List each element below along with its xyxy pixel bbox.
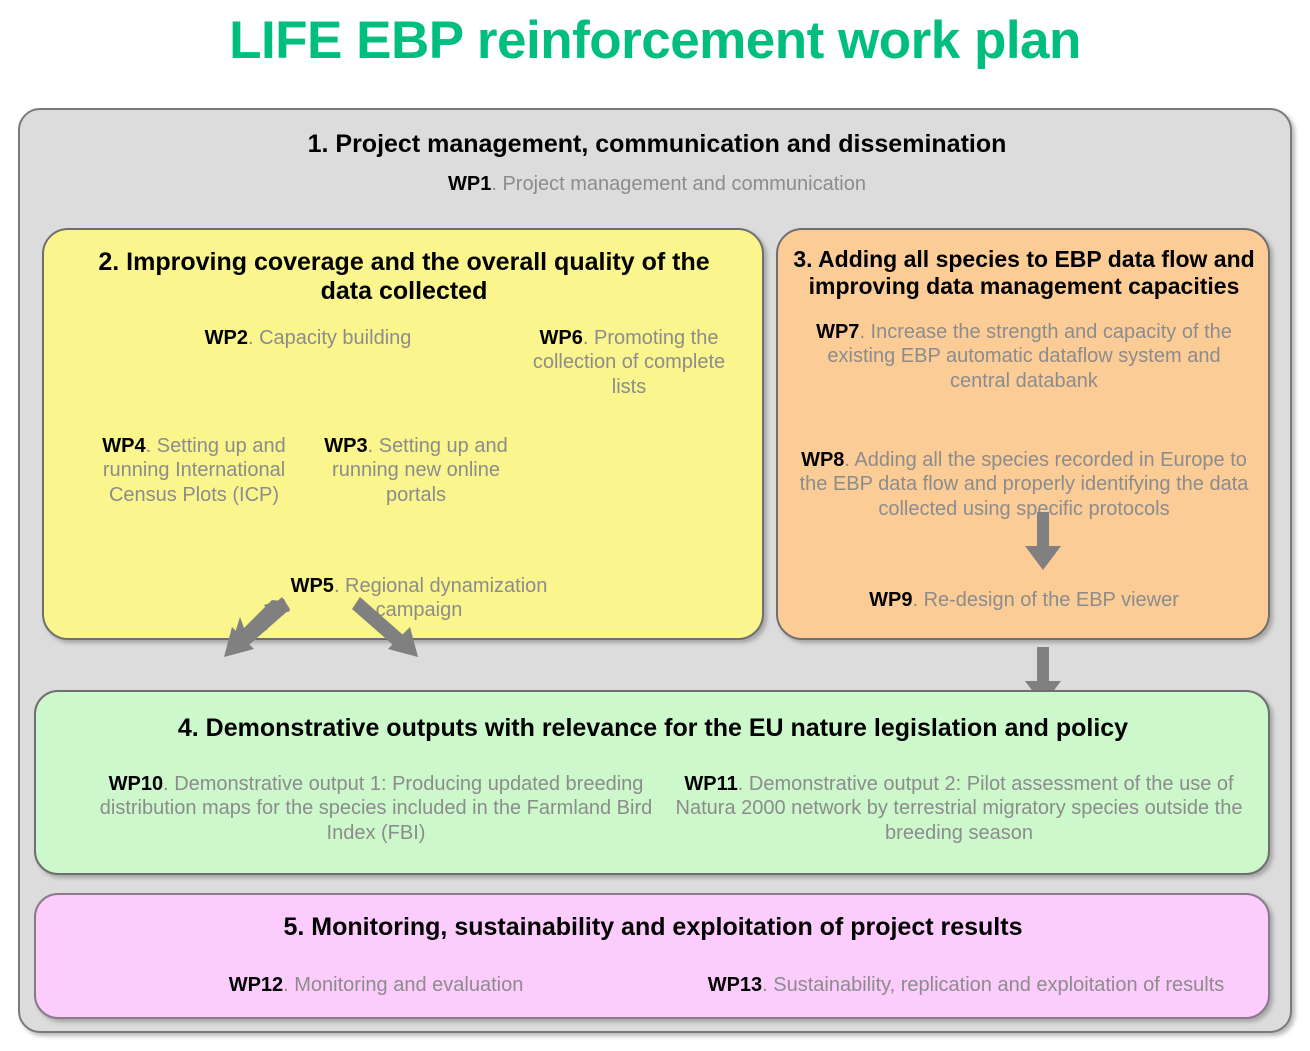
wp1-code: WP1	[448, 173, 491, 195]
section-5-box: 5. Monitoring, sustainability and exploi…	[34, 893, 1270, 1019]
wp4-code: WP4	[102, 435, 145, 457]
section-4-heading: 4. Demonstrative outputs with relevance …	[60, 714, 1246, 743]
wp8-code: WP8	[801, 449, 844, 471]
wp9-item: WP9. Re-design of the EBP viewer	[798, 588, 1250, 612]
workplan-container: 1. Project management, communication and…	[18, 108, 1292, 1033]
wp5-code: WP5	[291, 575, 334, 597]
section-3-box: 3. Adding all species to EBP data flow a…	[776, 228, 1270, 640]
wp7-text: . Increase the strength and capacity of …	[827, 321, 1231, 392]
wp3-item: WP3. Setting up and running new online p…	[306, 434, 526, 507]
wp10-item: WP10. Demonstrative output 1: Producing …	[96, 772, 656, 845]
wp8-text: . Adding all the species recorded in Eur…	[800, 449, 1249, 520]
wp9-text: . Re-design of the EBP viewer	[912, 589, 1178, 611]
section-2-heading: 2. Improving coverage and the overall qu…	[78, 248, 730, 307]
arrow-down-left-icon	[220, 597, 290, 659]
wp10-code: WP10	[109, 773, 163, 795]
wp10-text: . Demonstrative output 1: Producing upda…	[100, 773, 653, 844]
wp13-code: WP13	[708, 974, 762, 996]
wp13-text: . Sustainability, replication and exploi…	[762, 974, 1224, 996]
wp12-item: WP12. Monitoring and evaluation	[126, 973, 626, 997]
wp2-code: WP2	[205, 327, 248, 349]
wp11-code: WP11	[684, 773, 737, 795]
wp2-item: WP2. Capacity building	[118, 326, 498, 350]
wp11-text: . Demonstrative output 2: Pilot assessme…	[676, 773, 1243, 844]
wp3-code: WP3	[324, 435, 367, 457]
page-title: LIFE EBP reinforcement work plan	[0, 12, 1310, 70]
wp4-item: WP4. Setting up and running Internationa…	[74, 434, 314, 507]
wp12-text: . Monitoring and evaluation	[283, 974, 523, 996]
arrow-down-icon	[1025, 512, 1061, 570]
wp9-code: WP9	[869, 589, 912, 611]
wp8-item: WP8. Adding all the species recorded in …	[790, 448, 1258, 521]
wp13-item: WP13. Sustainability, replication and ex…	[656, 973, 1276, 997]
section-5-heading: 5. Monitoring, sustainability and exploi…	[60, 913, 1246, 942]
section-1-heading: 1. Project management, communication and…	[70, 130, 1244, 159]
wp6-code: WP6	[540, 327, 583, 349]
wp6-item: WP6. Promoting the collection of complet…	[514, 326, 744, 399]
wp7-code: WP7	[816, 321, 859, 343]
section-2-box: 2. Improving coverage and the overall qu…	[42, 228, 764, 640]
section-3-heading: 3. Adding all species to EBP data flow a…	[790, 246, 1258, 300]
arrow-down-right-icon	[352, 597, 422, 659]
wp11-item: WP11. Demonstrative output 2: Pilot asse…	[674, 772, 1244, 845]
wp12-code: WP12	[229, 974, 283, 996]
wp1-item: WP1. Project management and communicatio…	[70, 172, 1244, 196]
section-4-box: 4. Demonstrative outputs with relevance …	[34, 690, 1270, 875]
wp1-text: . Project management and communication	[491, 173, 866, 195]
wp2-text: . Capacity building	[248, 327, 411, 349]
wp7-item: WP7. Increase the strength and capacity …	[798, 320, 1250, 393]
